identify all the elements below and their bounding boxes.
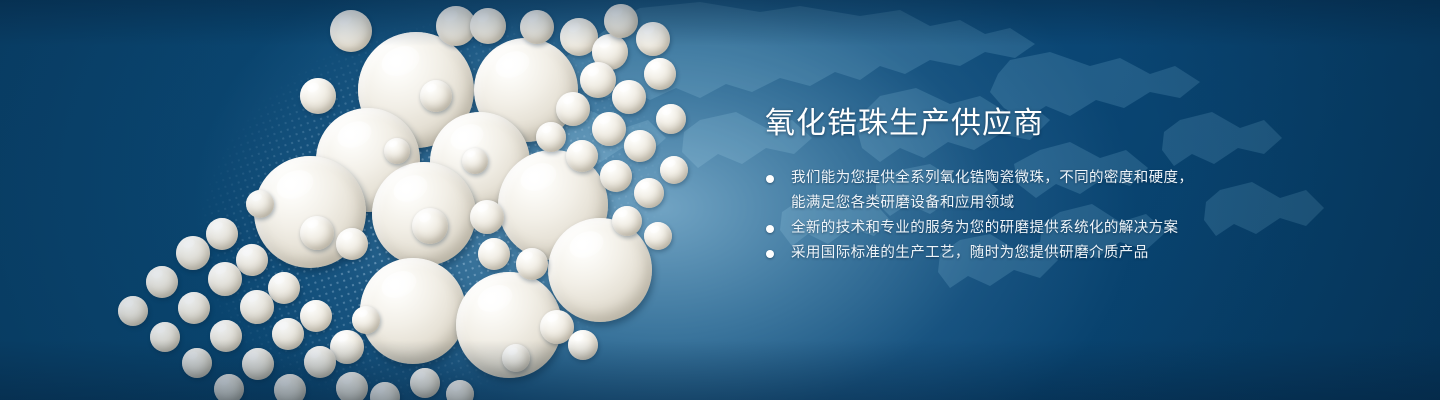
banner-headline: 氧化锆珠生产供应商 bbox=[765, 104, 1405, 144]
bullet-dot-icon bbox=[766, 175, 774, 183]
bullet-text-3-line-1: 采用国际标准的生产工艺，随时为您提供研磨介质产品 bbox=[791, 245, 1149, 261]
bullet-dot-icon bbox=[766, 250, 774, 258]
bullet-item-1: 我们能为您提供全系列氧化锆陶瓷微珠，不同的密度和硬度， 能满足您各类研磨设备和应… bbox=[765, 166, 1405, 216]
bullet-item-2: 全新的技术和专业的服务为您的研磨提供系统化的解决方案 bbox=[765, 216, 1405, 241]
banner-bullet-list: 我们能为您提供全系列氧化锆陶瓷微珠，不同的密度和硬度， 能满足您各类研磨设备和应… bbox=[765, 166, 1405, 266]
banner-copy: 氧化锆珠生产供应商 我们能为您提供全系列氧化锆陶瓷微珠，不同的密度和硬度， 能满… bbox=[765, 104, 1405, 266]
bottom-shade-overlay bbox=[0, 340, 1440, 400]
bullet-dot-icon bbox=[766, 225, 774, 233]
bullet-text-1-line-2: 能满足您各类研磨设备和应用领域 bbox=[791, 191, 1405, 216]
top-shade-overlay bbox=[0, 0, 1440, 46]
bullet-item-3: 采用国际标准的生产工艺，随时为您提供研磨介质产品 bbox=[765, 241, 1405, 266]
hero-banner: 氧化锆珠生产供应商 我们能为您提供全系列氧化锆陶瓷微珠，不同的密度和硬度， 能满… bbox=[0, 0, 1440, 400]
bullet-text-1-line-1: 我们能为您提供全系列氧化锆陶瓷微珠，不同的密度和硬度， bbox=[791, 170, 1193, 186]
bullet-text-2-line-1: 全新的技术和专业的服务为您的研磨提供系统化的解决方案 bbox=[791, 220, 1178, 236]
